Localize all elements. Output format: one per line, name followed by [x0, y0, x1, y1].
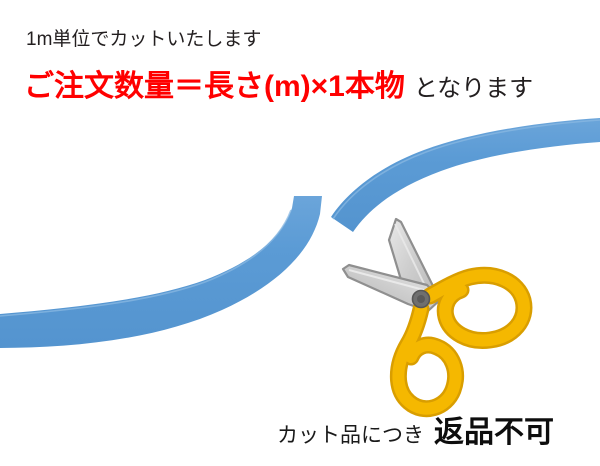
headline-main: ご注文数量＝長さ(m)×1本物となります: [24, 72, 533, 102]
scissor-handle-right: [430, 275, 524, 340]
headline-subtext: 1m単位でカットいたします: [26, 30, 261, 49]
headline-formula-suffix: となります: [414, 75, 533, 102]
footer-emphasis-text: 返品不可: [434, 416, 554, 449]
headline-formula-red: ご注文数量＝長さ(m)×1本物: [24, 70, 405, 103]
cut-service-notice-graphic: 1m単位でカットいたします ご注文数量＝長さ(m)×1本物となります カット品に…: [0, 0, 600, 466]
scissor-pivot-screw: [413, 291, 430, 308]
footer-lead-text: カット品につき: [277, 424, 424, 447]
footer-note: カット品につき返品不可: [277, 418, 554, 448]
